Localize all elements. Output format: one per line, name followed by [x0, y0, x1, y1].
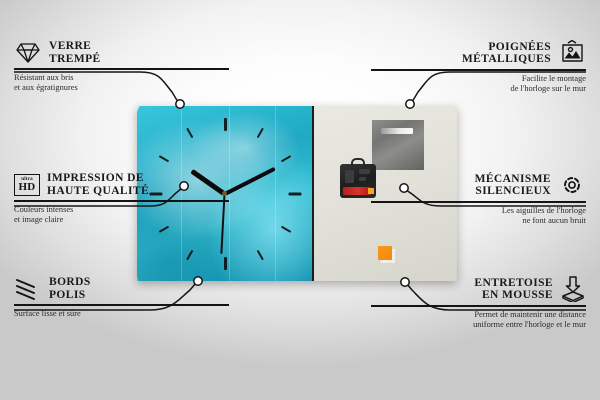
- foam-spacer: [378, 246, 392, 260]
- feature-title-line2: POLIS: [49, 289, 91, 302]
- mechanism-hook: [351, 158, 365, 167]
- infographic-canvas: VERRE TREMPÉ Résistant aux bris et aux é…: [0, 0, 600, 400]
- feature-desc-line2: uniforme entre l'horloge et le mur: [371, 320, 586, 330]
- feature-title-line2: HAUTE QUALITÉ: [47, 185, 149, 198]
- clock-tick: [158, 155, 169, 162]
- feature-desc-line1: Facilite le montage: [371, 74, 586, 84]
- divider: [371, 305, 586, 307]
- minute-hand: [224, 166, 276, 195]
- mechanism-detail: [345, 170, 354, 183]
- feature-desc-line2: et image claire: [14, 215, 229, 225]
- metal-hanger-plate: [372, 120, 424, 170]
- feature-desc-line1: Résistant aux bris: [14, 73, 229, 83]
- clock-tick: [186, 249, 193, 260]
- feature-mecanisme-silencieux[interactable]: MÉCANISME SILENCIEUX Les aiguilles de l'…: [371, 172, 586, 226]
- clock-tick: [224, 257, 227, 270]
- clock-tick: [158, 225, 169, 232]
- arrow-down-pad-icon: [560, 276, 586, 302]
- feature-desc-line1: Surface lisse et sûre: [14, 309, 229, 319]
- feature-desc-line2: et aux égratignures: [14, 83, 229, 93]
- feature-title-line1: IMPRESSION DE: [47, 172, 149, 185]
- divider: [371, 201, 586, 203]
- clock-tick: [280, 225, 291, 232]
- clock-tick: [224, 118, 227, 131]
- clock-tick: [288, 192, 301, 195]
- feature-title-line2: SILENCIEUX: [475, 185, 551, 198]
- ultra-hd-icon: ultra HD: [14, 174, 40, 196]
- battery: [343, 187, 371, 195]
- feature-title-line1: ENTRETOISE: [474, 277, 553, 290]
- feature-title-line2: TREMPÉ: [49, 53, 101, 66]
- feature-verre-trempe[interactable]: VERRE TREMPÉ Résistant aux bris et aux é…: [14, 40, 229, 93]
- feature-title-line1: POIGNÉES: [462, 41, 551, 54]
- divider: [371, 69, 586, 71]
- feature-entretoise-en-mousse[interactable]: ENTRETOISE EN MOUSSE Permet de maintenir…: [371, 276, 586, 330]
- picture-frame-hook-icon: [558, 40, 586, 66]
- divider: [14, 68, 229, 70]
- mechanism-detail: [359, 177, 366, 181]
- feature-title-line2: EN MOUSSE: [474, 289, 553, 302]
- clock-tick: [256, 249, 263, 260]
- hanger-slot: [381, 128, 413, 134]
- clock-tick: [186, 127, 193, 138]
- gear-icon: [558, 172, 586, 198]
- diagonal-lines-icon: [14, 277, 42, 301]
- feature-title-line1: MÉCANISME: [475, 173, 551, 186]
- divider: [14, 304, 229, 306]
- feature-title-line1: VERRE: [49, 40, 101, 53]
- feature-desc-line1: Les aiguilles de l'horloge: [371, 206, 586, 216]
- feature-title-line2: MÉTALLIQUES: [462, 53, 551, 66]
- divider: [14, 200, 229, 202]
- clock-tick: [256, 127, 263, 138]
- feature-impression-haute-qualite[interactable]: ultra HD IMPRESSION DE HAUTE QUALITÉ Cou…: [14, 172, 229, 225]
- feature-poignees-metalliques[interactable]: POIGNÉES MÉTALLIQUES Facilite le montage…: [371, 40, 586, 94]
- feature-desc-line1: Couleurs intenses: [14, 205, 229, 215]
- mechanism-detail: [359, 169, 370, 174]
- feature-desc-line1: Permet de maintenir une distance: [371, 310, 586, 320]
- diamond-icon: [14, 41, 42, 65]
- feature-bords-polis[interactable]: BORDS POLIS Surface lisse et sûre: [14, 276, 229, 319]
- feature-desc-line2: ne font aucun bruit: [371, 216, 586, 226]
- ultra-hd-icon-big-text: HD: [18, 182, 35, 193]
- feature-desc-line2: de l'horloge sur le mur: [371, 84, 586, 94]
- clock-tick: [280, 155, 291, 162]
- feature-title-line1: BORDS: [49, 276, 91, 289]
